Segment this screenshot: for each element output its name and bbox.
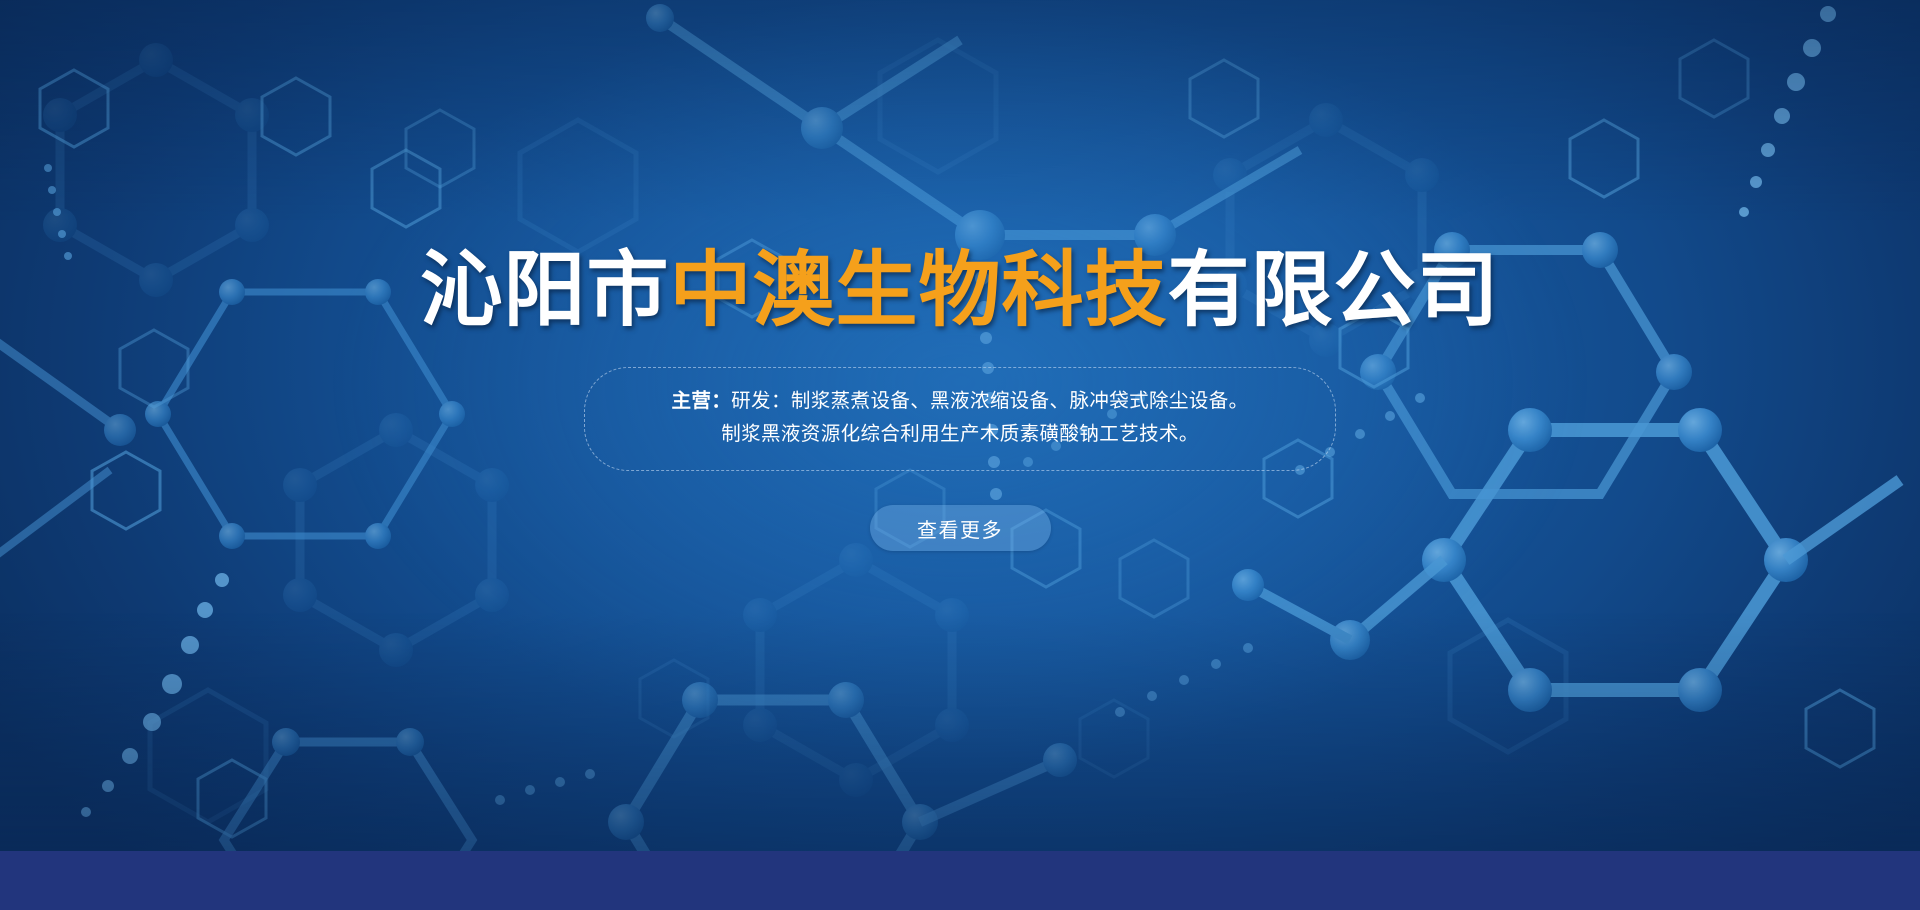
tagline-box: 主营：研发：制浆蒸煮设备、黑液浓缩设备、脉冲袋式除尘设备。 制浆黑液资源化综合利…	[584, 367, 1336, 471]
title-prefix: 沁阳市	[420, 245, 669, 336]
tagline-line-1-text: 研发：制浆蒸煮设备、黑液浓缩设备、脉冲袋式除尘设备。	[731, 390, 1248, 412]
tagline-lead-label: 主营：	[671, 390, 731, 412]
title-highlight: 中澳生物科技	[669, 245, 1167, 336]
view-more-button[interactable]: 查看更多	[870, 505, 1051, 551]
tagline-line-2: 制浆黑液资源化综合利用生产木质素磺酸钠工艺技术。	[619, 418, 1301, 451]
page-title: 沁阳市中澳生物科技有限公司	[420, 243, 1499, 339]
tagline-line-1: 主营：研发：制浆蒸煮设备、黑液浓缩设备、脉冲袋式除尘设备。	[619, 385, 1301, 418]
title-suffix: 有限公司	[1168, 245, 1500, 336]
hero-content: 沁阳市中澳生物科技有限公司 主营：研发：制浆蒸煮设备、黑液浓缩设备、脉冲袋式除尘…	[0, 0, 1920, 851]
bottom-bar	[0, 851, 1920, 910]
hero-banner: 沁阳市中澳生物科技有限公司 主营：研发：制浆蒸煮设备、黑液浓缩设备、脉冲袋式除尘…	[0, 0, 1920, 910]
